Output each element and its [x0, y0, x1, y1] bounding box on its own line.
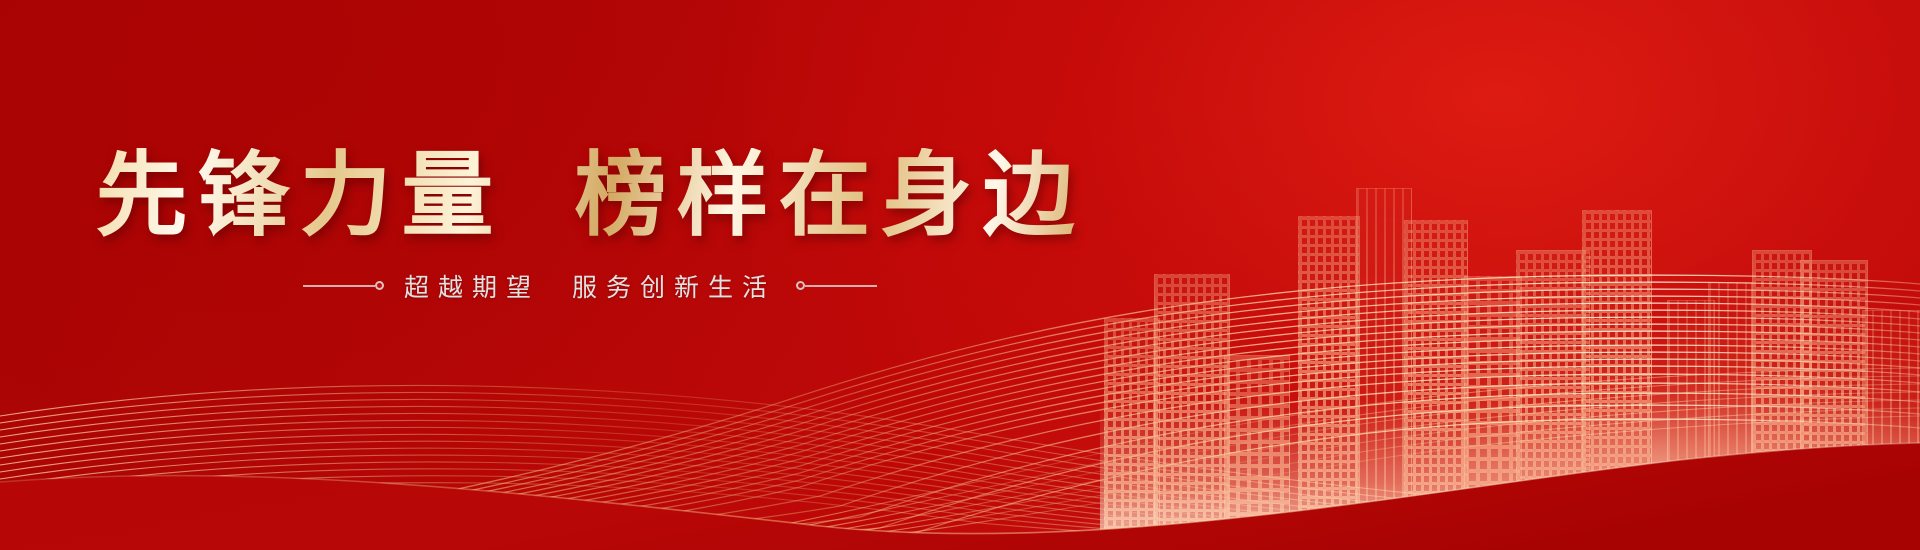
building [1516, 250, 1590, 550]
building [1752, 250, 1812, 550]
decoration-bar [303, 285, 375, 287]
building [1298, 216, 1360, 550]
city-skyline-graphic [1100, 120, 1920, 550]
line-circle-decoration-right-icon [796, 281, 877, 290]
building [1667, 300, 1715, 550]
building [1404, 220, 1468, 550]
building [1862, 310, 1920, 550]
building [1224, 355, 1290, 550]
building [1708, 282, 1752, 550]
decoration-bar [805, 285, 877, 287]
building [1800, 260, 1868, 550]
decoration-dot [796, 281, 805, 290]
line-circle-decoration-left-icon [303, 281, 384, 290]
skyline-haze [1100, 400, 1920, 550]
building [1356, 188, 1412, 550]
banner-subtitle: 超越期望 服务创新生活 [404, 268, 776, 304]
skyline-glow [1060, 80, 1920, 550]
banner-title: 先锋力量 榜样在身边 [95, 148, 1084, 246]
banner-subtitle-row: 超越期望 服务创新生活 [303, 268, 877, 304]
building [1464, 276, 1522, 550]
banner-text-block: 先锋力量 榜样在身边 超越期望 服务创新生活 [0, 0, 1180, 550]
building [1582, 210, 1652, 550]
celebration-banner: 先锋力量 榜样在身边 超越期望 服务创新生活 [0, 0, 1920, 550]
decoration-dot [375, 281, 384, 290]
